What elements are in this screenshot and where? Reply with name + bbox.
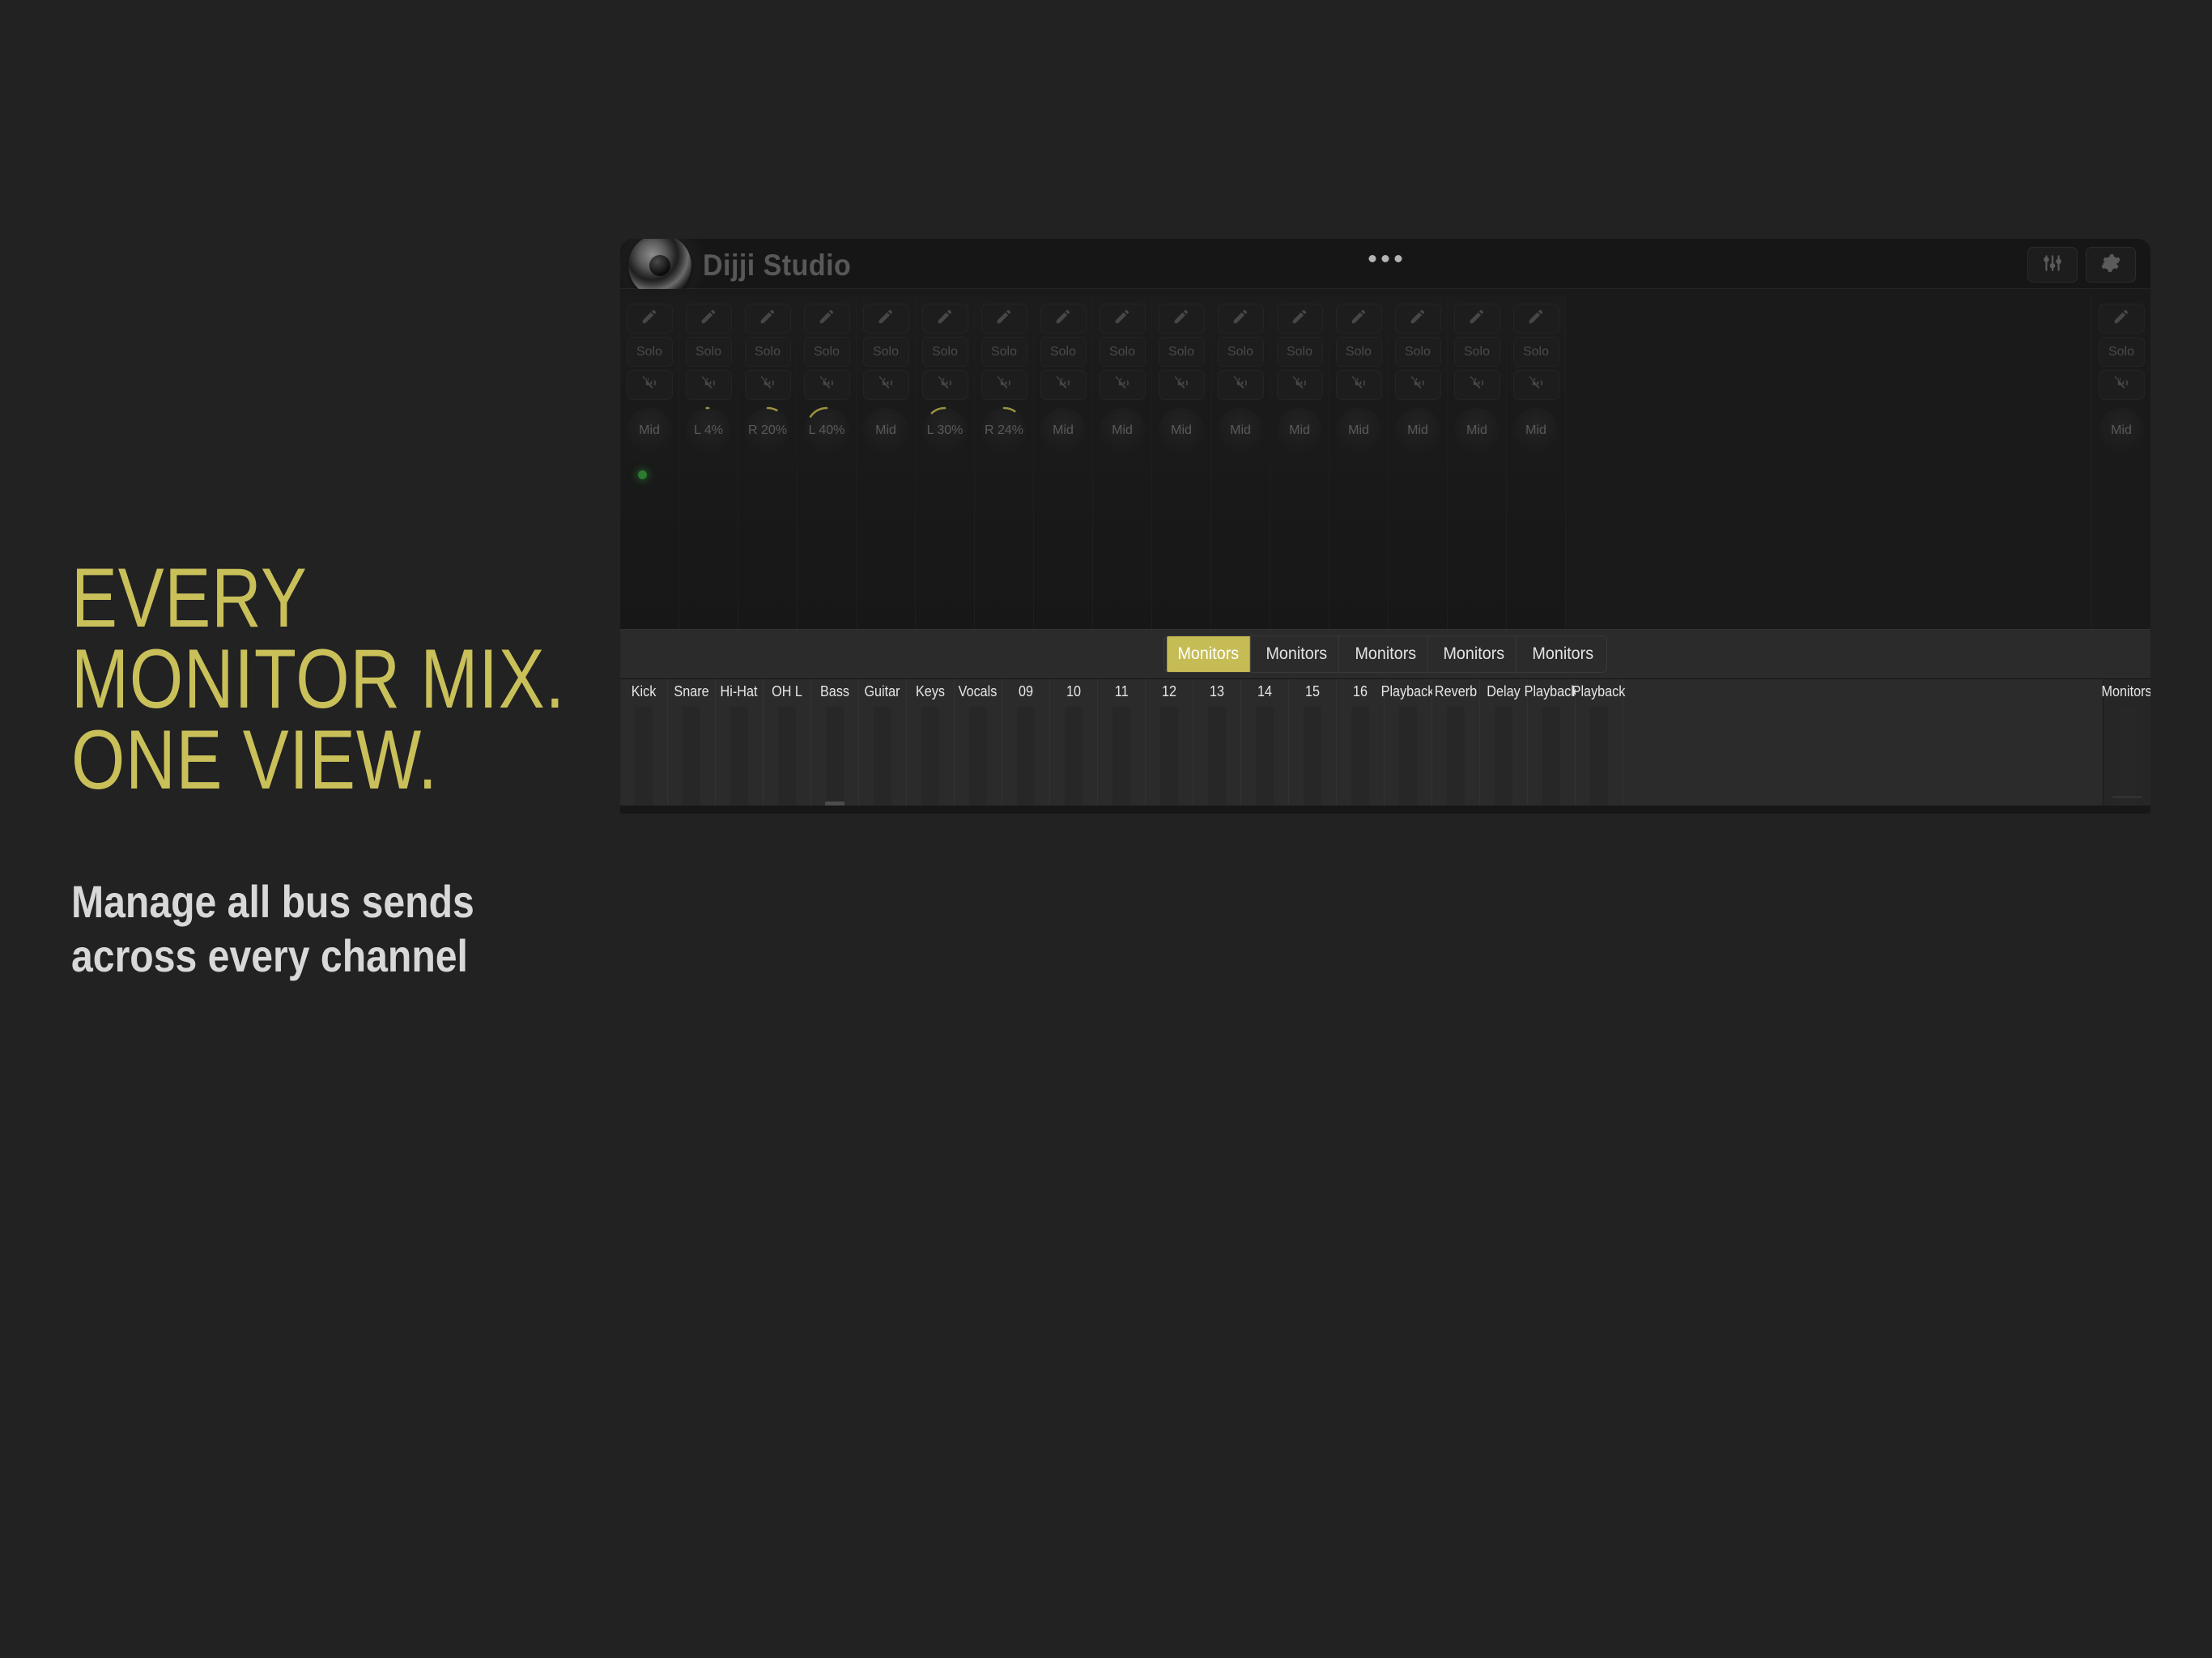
solo-button[interactable]: Solo [1395,337,1441,367]
channel-fader[interactable] [1017,707,1035,806]
strip-fill [1211,490,1270,629]
channel-name: 12 [1162,679,1176,704]
pan-knob[interactable]: Mid [1040,408,1086,453]
pan-value: Mid [1230,423,1251,438]
pan-knob[interactable]: Mid [1395,408,1440,453]
pan-value: Mid [2111,423,2132,438]
mixer-view-button[interactable] [2027,247,2078,283]
edit-button[interactable] [627,304,673,334]
mute-speaker-icon [1291,375,1308,395]
channel-name: Vocals [959,679,998,704]
faders-icon [2042,253,2063,278]
mute-button[interactable] [1277,370,1323,400]
channel-strip[interactable]: OH LMidIN [764,679,811,806]
strip-fill [738,490,797,629]
channel-name: Playback [1381,679,1435,704]
fader-track-top [1542,707,1560,806]
edit-button[interactable] [1277,304,1323,334]
mute-button[interactable] [1159,370,1205,400]
channel-fader[interactable] [1256,707,1274,806]
fader-track-top [778,707,796,806]
upper-channel-strip[interactable]: SoloL 30% [916,295,975,629]
edit-pencil-icon [1231,308,1249,329]
mute-button[interactable] [981,370,1027,400]
fader-track-top [635,707,653,806]
edit-button[interactable] [804,304,850,334]
channel-strip[interactable]: ReverbMidIN [1432,679,1480,806]
edit-button[interactable] [2099,304,2145,334]
edit-pencil-icon [936,308,954,329]
upper-channel-strip[interactable]: SoloMid [1448,295,1507,629]
mute-button[interactable] [627,370,673,400]
pan-knob[interactable]: Mid [863,408,908,453]
mute-button[interactable] [863,370,909,400]
edit-button[interactable] [922,304,968,334]
channel-name: 13 [1210,679,1224,704]
mute-speaker-icon [996,375,1012,395]
channel-strip[interactable]: 13MidIN [1193,679,1241,806]
pan-value: Mid [1289,423,1310,438]
title-bar-actions [2027,247,2136,283]
fader-track-top [1447,707,1465,806]
fader-track-top [683,707,700,806]
fader-track-top [1590,707,1608,806]
tab-label: Monitors [1177,644,1239,664]
edit-pencil-icon [877,308,895,329]
channel-fader[interactable] [826,707,844,806]
channel-strip[interactable]: 16MidIN [1337,679,1385,806]
pan-value: Mid [1171,423,1192,438]
upper-channel-strip[interactable]: SoloMid [1211,295,1270,629]
fader-track-top [1065,707,1083,806]
mute-button[interactable] [1218,370,1264,400]
mute-speaker-icon [1469,375,1485,395]
solo-button[interactable]: Solo [1040,337,1087,367]
channel-fader[interactable] [1495,707,1512,806]
headline-line: ONE VIEW. [71,721,536,801]
edit-button[interactable] [1218,304,1264,334]
tab-monitors-5[interactable]: Monitors [1521,636,1604,672]
channel-strip[interactable]: PlaybackMidIN [1385,679,1432,806]
lower-mixer-section: KickMidINSnareMidINHi-HatMidINOH LMidINB… [620,679,2150,806]
channel-name: 09 [1019,679,1033,704]
mute-button[interactable] [1454,370,1500,400]
solo-label: Solo [1346,345,1372,359]
strip-fill [798,490,856,629]
solo-button[interactable]: Solo [804,337,850,367]
edit-button[interactable] [1159,304,1205,334]
channel-name: Playback [1572,679,1626,704]
mute-speaker-icon [1114,375,1130,395]
pan-knob[interactable]: L 30% [922,408,968,453]
channel-fader[interactable] [1208,707,1226,806]
mute-button[interactable] [2099,370,2145,400]
edit-button[interactable] [686,304,732,334]
upper-channel-strip[interactable]: SoloMid [1507,295,1566,629]
edit-button[interactable] [1454,304,1500,334]
pan-knob[interactable]: Mid [1277,408,1322,453]
mute-button[interactable] [686,370,732,400]
pan-knob[interactable]: R 24% [981,408,1027,453]
channel-strip[interactable]: PlaybackMidIN [1576,679,1623,806]
channel-fader[interactable] [874,707,891,806]
channel-fader[interactable] [778,707,796,806]
edit-button[interactable] [1395,304,1441,334]
fader-track-top [969,707,987,806]
pan-value: Mid [1112,423,1133,438]
solo-label: Solo [1464,345,1490,359]
strip-fill [916,490,974,629]
three-dots-icon[interactable] [1369,255,1402,262]
pan-knob[interactable]: Mid [1100,408,1145,453]
fader-track-top [1399,707,1417,806]
solo-label: Solo [696,345,721,359]
channel-strips[interactable]: KickMidINSnareMidINHi-HatMidINOH LMidINB… [620,679,2103,806]
subheadline-line: Manage all bus sends [71,875,559,929]
fader-track-top [1017,707,1035,806]
tab-label: Monitors [1266,644,1328,664]
channel-name: OH L [772,679,802,704]
channel-name: Playback [1525,679,1578,704]
solo-button[interactable]: Solo [1159,337,1205,367]
solo-label: Solo [1523,345,1549,359]
channel-fader[interactable] [1160,707,1178,806]
upper-channel-strip[interactable]: SoloMid [1093,295,1152,629]
mute-speaker-icon [700,375,717,395]
bus-tabs-bar: MonitorsMonitorsMonitorsMonitorsMonitors [620,629,2150,679]
edit-pencil-icon [1409,308,1427,329]
mute-button[interactable] [745,370,791,400]
mute-speaker-icon [1528,375,1544,395]
pan-value: Mid [1348,423,1369,438]
edit-button[interactable] [1513,304,1559,334]
upper-channel-strip[interactable]: SoloMid [1152,295,1211,629]
mute-button[interactable] [1513,370,1559,400]
strip-fill [620,490,678,629]
solo-label: Solo [636,345,662,359]
edit-pencil-icon [700,308,717,329]
channel-fader[interactable] [635,707,653,806]
channel-fader[interactable] [969,707,987,806]
channel-name: Hi-Hat [721,679,758,704]
mute-button[interactable] [1395,370,1441,400]
channel-fader[interactable] [1399,707,1417,806]
channel-fader[interactable] [1447,707,1465,806]
fader-track-top [1112,707,1130,806]
solo-button[interactable]: Solo [1454,337,1500,367]
edit-button[interactable] [1100,304,1146,334]
channel-name: 15 [1305,679,1320,704]
tab-label: Monitors [1355,644,1416,664]
channel-strip[interactable]: DelayMidIN [1480,679,1528,806]
edit-pencil-icon [818,308,836,329]
strip-fill [1093,490,1151,629]
settings-button[interactable] [2086,247,2136,283]
marketing-copy: EVERY MONITOR MIX. ONE VIEW. Manage all … [71,559,638,983]
edit-pencil-icon [640,308,658,329]
app-title: Dijji Studio [703,249,851,283]
pan-knob[interactable]: Mid [1218,408,1263,453]
channel-strip[interactable]: BassMidIN [811,679,859,806]
solo-label: Solo [991,345,1017,359]
solo-button[interactable]: Solo [922,337,968,367]
solo-button[interactable]: Solo [1277,337,1323,367]
channel-strip[interactable]: 11MidIN [1098,679,1146,806]
fader-track-top [1256,707,1274,806]
pan-knob[interactable]: Mid [627,408,672,453]
channel-fader[interactable] [1304,707,1321,806]
channel-fader[interactable] [921,707,939,806]
edit-pencil-icon [1113,308,1131,329]
solo-label: Solo [1405,345,1431,359]
channel-strip[interactable]: VocalsMidIN [955,679,1002,806]
pan-knob[interactable]: L 4% [686,408,731,453]
tab-monitors-1[interactable]: Monitors [1167,636,1250,672]
mute-button[interactable] [1040,370,1087,400]
solo-button[interactable]: Solo [2099,337,2145,367]
strip-fill [975,490,1033,629]
pan-knob[interactable]: Mid [1336,408,1381,453]
pan-knob[interactable]: R 20% [745,408,790,453]
solo-label: Solo [1227,345,1253,359]
solo-label: Solo [1287,345,1312,359]
master-strip-label: Monitors [2102,679,2150,704]
solo-button[interactable]: Solo [863,337,909,367]
solo-button[interactable]: Solo [686,337,732,367]
strip-fill [1389,490,1447,629]
mute-button[interactable] [1336,370,1382,400]
mute-speaker-icon [641,375,657,395]
channel-strip[interactable]: 09MidIN [1002,679,1050,806]
solo-label: Solo [1109,345,1135,359]
channel-strip[interactable]: KeysMidIN [907,679,955,806]
headline-line: MONITOR MIX. [71,640,536,721]
solo-button[interactable]: Solo [1336,337,1382,367]
channel-strip[interactable]: 15MidIN [1289,679,1337,806]
channel-name: 10 [1066,679,1081,704]
fader-track-top [826,707,844,806]
mute-speaker-icon [878,375,894,395]
upper-channel-strip[interactable]: SoloMid [857,295,916,629]
channel-fader[interactable] [1351,707,1369,806]
fader-track-top [2118,707,2136,806]
solo-label: Solo [814,345,840,359]
fader-track-top [921,707,939,806]
headline: EVERY MONITOR MIX. ONE VIEW. [71,559,536,801]
upper-channel-strip[interactable]: SoloR 24% [975,295,1034,629]
solo-button[interactable]: Solo [981,337,1027,367]
upper-master-strip[interactable]: SoloMid [2091,295,2150,629]
fader-track-top [874,707,891,806]
edit-button[interactable] [981,304,1027,334]
channel-strip[interactable]: 10MidIN [1050,679,1098,806]
upper-channel-strip[interactable]: SoloMid [1389,295,1448,629]
pan-knob[interactable]: Mid [2099,408,2144,453]
channel-strip[interactable]: PlaybackMidIN [1528,679,1576,806]
window-bottom-edge [620,806,2150,814]
mute-speaker-icon [1173,375,1189,395]
mute-button[interactable] [922,370,968,400]
mute-speaker-icon [759,375,776,395]
app-window: Dijji Studio SoloMidSolo [620,239,2150,806]
channel-fader[interactable] [1542,707,1560,806]
fader-track-top [730,707,748,806]
pan-value: Mid [1466,423,1487,438]
solo-label: Solo [1050,345,1076,359]
fader-track-top [1160,707,1178,806]
channel-fader[interactable] [730,707,748,806]
channel-strip[interactable]: SnareMidIN [668,679,716,806]
mute-speaker-icon [937,375,953,395]
solo-label: Solo [873,345,899,359]
pan-knob[interactable]: Mid [1454,408,1499,453]
upper-mixer-section: SoloMidSoloL 4%SoloR 20%SoloL 40%SoloMid… [620,289,2150,629]
channel-name: Snare [674,679,708,704]
mute-button[interactable] [804,370,850,400]
solo-button[interactable]: Solo [1218,337,1264,367]
mute-speaker-icon [1351,375,1367,395]
edit-button[interactable] [1336,304,1382,334]
pan-value: Mid [1407,423,1428,438]
headline-line: EVERY [71,559,536,640]
fader-track-top [1304,707,1321,806]
master-fader[interactable] [2118,707,2136,806]
pan-value: Mid [639,423,660,438]
edit-pencil-icon [2112,308,2130,329]
channel-fader[interactable] [1112,707,1130,806]
channel-name: 11 [1115,679,1129,704]
pan-value: Mid [875,423,896,438]
fader-tick [2112,797,2142,797]
gear-icon [2100,253,2121,278]
channel-fader[interactable] [683,707,700,806]
pan-value: Mid [1053,423,1074,438]
tab-monitors-2[interactable]: Monitors [1255,636,1338,672]
upper-channel-strip[interactable]: SoloR 20% [738,295,798,629]
edit-button[interactable] [1040,304,1087,334]
pan-knob[interactable]: L 40% [804,408,849,453]
fader-track-top [1208,707,1226,806]
solo-label: Solo [2108,345,2134,359]
upper-channel-strip[interactable]: SoloL 40% [798,295,857,629]
mute-speaker-icon [819,375,835,395]
tab-monitors-3[interactable]: Monitors [1344,636,1427,672]
upper-channel-strip[interactable]: SoloMid [1034,295,1093,629]
tab-label: Monitors [1532,644,1593,664]
channel-name: Delay [1487,679,1520,704]
edit-pencil-icon [1172,308,1190,329]
strip-fill [1034,490,1092,629]
solo-label: Solo [755,345,781,359]
solo-label: Solo [1168,345,1194,359]
strip-fill [1448,490,1506,629]
pan-knob[interactable]: Mid [1159,408,1204,453]
channel-fader[interactable] [1590,707,1608,806]
strip-fill [1507,490,1565,629]
tab-monitors-4[interactable]: Monitors [1433,636,1516,672]
channel-strip[interactable]: KickMidIN [620,679,668,806]
edit-pencil-icon [1054,308,1072,329]
fader-track-top [1495,707,1512,806]
pan-knob[interactable]: Mid [1513,408,1559,453]
signal-led [638,470,647,479]
mute-speaker-icon [1410,375,1426,395]
channel-strip[interactable]: Hi-HatMidIN [716,679,764,806]
upper-channel-strip[interactable]: SoloMid [1329,295,1389,629]
mute-speaker-icon [1055,375,1071,395]
bus-tabs[interactable]: MonitorsMonitorsMonitorsMonitorsMonitors [1163,636,1608,673]
edit-button[interactable] [745,304,791,334]
strip-fill [1152,490,1210,629]
channel-name: 14 [1257,679,1272,704]
solo-label: Solo [932,345,958,359]
pan-value: Mid [1525,423,1546,438]
strip-fill [679,490,738,629]
channel-name: Bass [820,679,849,704]
mute-speaker-icon [2113,375,2129,395]
tab-label: Monitors [1444,644,1505,664]
channel-strip[interactable]: GuitarMidIN [859,679,907,806]
mute-button[interactable] [1100,370,1146,400]
solo-button[interactable]: Solo [1100,337,1146,367]
channel-name: Kick [632,679,657,704]
mute-speaker-icon [1232,375,1249,395]
edit-pencil-icon [1468,308,1486,329]
upper-channel-strip[interactable]: SoloMid [1270,295,1329,629]
edit-pencil-icon [1350,308,1368,329]
edit-pencil-icon [1527,308,1545,329]
solo-button[interactable]: Solo [1513,337,1559,367]
edit-button[interactable] [863,304,909,334]
edit-pencil-icon [759,308,776,329]
edit-pencil-icon [1291,308,1308,329]
channel-fader[interactable] [1065,707,1083,806]
subheadline: Manage all bus sends across every channe… [71,875,559,982]
channel-strip[interactable]: 14MidIN [1241,679,1289,806]
strip-fill [857,490,915,629]
upper-channel-strip[interactable]: SoloMid [620,295,679,629]
subheadline-line: across every channel [71,929,559,983]
upper-mixer-strips[interactable]: SoloMidSoloL 4%SoloR 20%SoloL 40%SoloMid… [620,295,2091,629]
solo-button[interactable]: Solo [627,337,673,367]
channel-strip[interactable]: 12MidIN [1146,679,1193,806]
edit-pencil-icon [995,308,1013,329]
strip-fill [1270,490,1329,629]
fader-track-top [1351,707,1369,806]
strip-fill [1329,490,1388,629]
channel-name: Reverb [1435,679,1477,704]
master-strip[interactable]: Monitors [2103,679,2150,806]
channel-name: Keys [916,679,945,704]
upper-channel-strip[interactable]: SoloL 4% [679,295,738,629]
title-bar: Dijji Studio [620,239,2150,289]
channel-name: Guitar [865,679,900,704]
channel-name: 16 [1353,679,1368,704]
solo-button[interactable]: Solo [745,337,791,367]
